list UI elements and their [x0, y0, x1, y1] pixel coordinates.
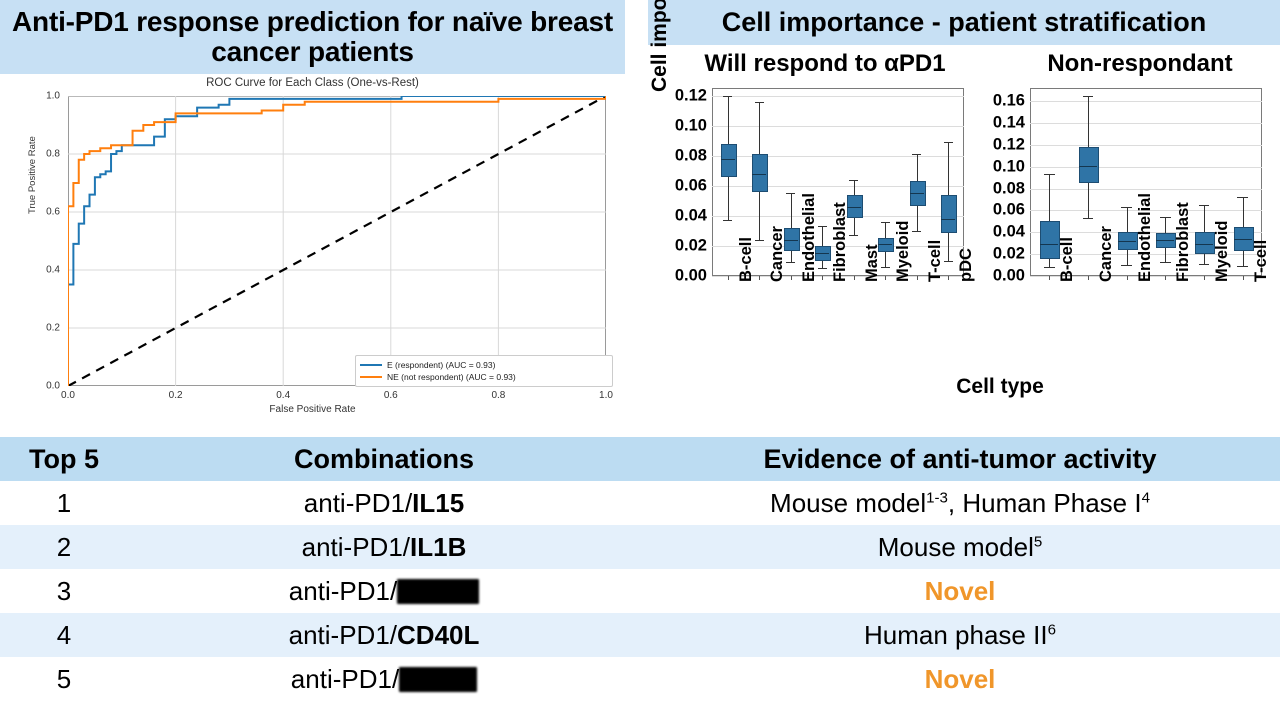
cell-evidence: Novel [640, 664, 1280, 695]
roc-x-tick: 0.6 [384, 390, 398, 401]
roc-y-tick: 0.4 [30, 265, 60, 276]
median-line [721, 159, 735, 160]
boxplot-x-label: B-cell [1058, 237, 1077, 282]
roc-x-tick: 0.2 [169, 390, 183, 401]
x-tickmark [1049, 276, 1050, 280]
gridline [1030, 189, 1262, 190]
combination-prefix: anti-PD1/ [291, 664, 399, 694]
cell-rank: 5 [0, 664, 128, 695]
x-tickmark [728, 276, 729, 280]
whisker-cap-upper [944, 142, 953, 143]
whisker-cap-upper [1121, 207, 1132, 208]
whisker-upper [1243, 197, 1244, 227]
x-tickmark [1088, 276, 1089, 280]
roc-svg [68, 96, 606, 386]
roc-x-tick: 0.0 [61, 390, 75, 401]
whisker-cap-upper [912, 154, 921, 155]
cell-evidence: Mouse model5 [640, 532, 1280, 563]
roc-x-tick: 0.8 [491, 390, 505, 401]
combination-prefix: anti-PD1/ [304, 488, 412, 518]
whisker-upper [822, 226, 823, 246]
combination-prefix: anti-PD1/ [302, 532, 410, 562]
cell-rank: 4 [0, 620, 128, 651]
whisker-cap-lower [944, 261, 953, 262]
whisker-cap-lower [723, 220, 732, 221]
whisker-upper [854, 180, 855, 195]
whisker-cap-upper [1199, 205, 1210, 206]
whisker-cap-lower [1237, 266, 1248, 267]
boxplot-y-tick: 0.02 [993, 245, 1025, 264]
boxplot-x-label: Cancer [1097, 226, 1116, 282]
whisker-cap-lower [755, 240, 764, 241]
box [721, 144, 737, 178]
table-row: 2 anti-PD1/IL1B Mouse model5 [0, 525, 1280, 569]
whisker-upper [917, 154, 918, 181]
legend-label: NE (not respondent) (AUC = 0.93) [387, 372, 516, 382]
table-row: 5 anti-PD1/ Novel [0, 657, 1280, 701]
x-tickmark [791, 276, 792, 280]
x-tickmark [759, 276, 760, 280]
whisker-cap-lower [881, 267, 890, 268]
whisker-lower [948, 231, 949, 261]
whisker-upper [759, 102, 760, 155]
roc-plot-area: True Positive Rate [68, 96, 606, 386]
roc-x-axis-label: False Positive Rate [0, 404, 625, 415]
legend-color-swatch [360, 364, 382, 366]
roc-y-tick: 1.0 [30, 91, 60, 102]
gridline [712, 96, 964, 97]
median-line [910, 193, 924, 194]
whisker-upper [791, 193, 792, 228]
boxplot-x-label: Myeloid [894, 221, 913, 282]
whisker-upper [1204, 205, 1205, 232]
drug-name: IL1B [410, 532, 466, 562]
legend-item: NE (not respondent) (AUC = 0.93) [360, 371, 608, 383]
whisker-lower [917, 204, 918, 231]
whisker-cap-lower [912, 231, 921, 232]
column-header-evidence: Evidence of anti-tumor activity [640, 444, 1280, 475]
gridline [712, 186, 964, 187]
gridline [1030, 101, 1262, 102]
boxplot-responder: 0.000.020.040.060.080.100.12 B-cell Canc… [712, 88, 964, 276]
cell-type-axis-label: Cell type [880, 375, 1120, 399]
gridline [712, 126, 964, 127]
whisker-cap-upper [1160, 217, 1171, 218]
table-header-row: Top 5 Combinations Evidence of anti-tumo… [0, 437, 1280, 481]
whisker-cap-lower [818, 268, 827, 269]
whisker-lower [759, 190, 760, 240]
drug-name: IL15 [412, 488, 464, 518]
boxplot-y-tick: 0.04 [993, 223, 1025, 242]
whisker-cap-upper [881, 222, 890, 223]
cell-importance-axis-label: Cell importance [648, 0, 672, 92]
boxplot-y-tick: 0.12 [675, 86, 707, 105]
drug-name: CD40L [397, 620, 479, 650]
whisker-upper [1049, 174, 1050, 221]
x-tickmark [917, 276, 918, 280]
x-tickmark [885, 276, 886, 280]
whisker-lower [854, 216, 855, 236]
redacted-drug-name [397, 579, 479, 604]
cell-combination: anti-PD1/IL15 [128, 488, 640, 519]
whisker-lower [1127, 248, 1128, 265]
whisker-cap-lower [1121, 265, 1132, 266]
left-panel-title: Anti-PD1 response prediction for naïve b… [0, 0, 625, 74]
evidence-text: Mouse model1-3, Human Phase I4 [770, 488, 1150, 518]
roc-chart-panel: ROC Curve for Each Class (One-vs-Rest) T… [0, 74, 625, 432]
boxplot-x-label: Endothelial [800, 193, 819, 282]
median-line [815, 253, 829, 254]
whisker-upper [728, 96, 729, 144]
roc-legend: E (respondent) (AUC = 0.93) NE (not resp… [355, 355, 613, 387]
gridline [1030, 145, 1262, 146]
boxplot-x-label: Fibroblast [1174, 202, 1193, 282]
roc-chart-title: ROC Curve for Each Class (One-vs-Rest) [0, 77, 625, 89]
median-line [752, 174, 766, 175]
table-body: 1 anti-PD1/IL15 Mouse model1-3, Human Ph… [0, 481, 1280, 701]
roc-y-tick: 0.8 [30, 149, 60, 160]
cell-combination: anti-PD1/ [128, 664, 640, 695]
boxplot-y-tick: 0.10 [675, 116, 707, 135]
legend-color-swatch [360, 376, 382, 378]
whisker-upper [885, 222, 886, 239]
boxplot-y-tick: 0.10 [993, 157, 1025, 176]
whisker-cap-upper [723, 96, 732, 97]
gridline [1030, 123, 1262, 124]
whisker-lower [728, 175, 729, 220]
whisker-cap-lower [849, 235, 858, 236]
whisker-cap-upper [849, 180, 858, 181]
boxplot-y-tick: 0.08 [675, 146, 707, 165]
cell-combination: anti-PD1/CD40L [128, 620, 640, 651]
x-tickmark [854, 276, 855, 280]
whisker-cap-lower [1199, 264, 1210, 265]
roc-y-tick: 0.6 [30, 207, 60, 218]
whisker-lower [791, 249, 792, 263]
boxplot-y-tick: 0.00 [993, 267, 1025, 286]
boxplot-y-tick: 0.12 [993, 135, 1025, 154]
whisker-cap-upper [1237, 197, 1248, 198]
median-line [1195, 244, 1213, 245]
whisker-cap-upper [786, 193, 795, 194]
nonresponder-subtitle: Non-respondant [1000, 50, 1280, 78]
median-line [784, 240, 798, 241]
gridline [1030, 167, 1262, 168]
whisker-lower [1088, 181, 1089, 218]
whisker-upper [1127, 207, 1128, 232]
column-header-combinations: Combinations [128, 444, 640, 475]
median-line [847, 207, 861, 208]
x-tickmark [1204, 276, 1205, 280]
median-line [1079, 166, 1097, 167]
median-line [941, 219, 955, 220]
cell-rank: 3 [0, 576, 128, 607]
boxplot-x-label: B-cell [737, 237, 756, 282]
whisker-lower [1243, 249, 1244, 266]
evidence-text: Mouse model5 [878, 532, 1042, 562]
whisker-lower [885, 250, 886, 267]
median-line [1234, 239, 1252, 240]
whisker-cap-upper [818, 226, 827, 227]
median-line [1156, 240, 1174, 241]
whisker-cap-lower [1160, 262, 1171, 263]
boxplot-x-label: pDC [957, 248, 976, 282]
right-panel-title: Cell importance - patient stratification [648, 0, 1280, 45]
table-row: 4 anti-PD1/CD40L Human phase II6 [0, 613, 1280, 657]
boxplot-y-tick: 0.06 [993, 201, 1025, 220]
cell-evidence: Mouse model1-3, Human Phase I4 [640, 488, 1280, 519]
box [878, 238, 894, 252]
boxplot-y-tick: 0.06 [675, 176, 707, 195]
boxplot-x-label: T-cell [1252, 240, 1271, 282]
legend-item: E (respondent) (AUC = 0.93) [360, 359, 608, 371]
boxplot-y-tick: 0.14 [993, 113, 1025, 132]
whisker-upper [1165, 217, 1166, 233]
boxplot-y-tick: 0.16 [993, 92, 1025, 111]
x-tickmark [1243, 276, 1244, 280]
roc-y-tick: 0.2 [30, 323, 60, 334]
box [1195, 232, 1215, 254]
roc-y-tick: 0.0 [30, 381, 60, 392]
table-row: 1 anti-PD1/IL15 Mouse model1-3, Human Ph… [0, 481, 1280, 525]
whisker-cap-lower [1044, 267, 1055, 268]
cell-evidence: Novel [640, 576, 1280, 607]
combination-prefix: anti-PD1/ [289, 576, 397, 606]
x-tickmark [948, 276, 949, 280]
boxplot-nonresponder: 0.000.020.040.060.080.100.120.140.16 B-c… [1030, 88, 1262, 276]
evidence-text: Human phase II6 [864, 620, 1056, 650]
x-tickmark [1127, 276, 1128, 280]
median-line [1040, 244, 1058, 245]
novel-badge: Novel [925, 576, 996, 606]
whisker-upper [1088, 96, 1089, 147]
combination-prefix: anti-PD1/ [289, 620, 397, 650]
gridline [712, 156, 964, 157]
whisker-lower [1165, 246, 1166, 261]
boxplot-y-tick: 0.02 [675, 236, 707, 255]
whisker-cap-upper [1083, 96, 1094, 97]
top5-combinations-table: Top 5 Combinations Evidence of anti-tumo… [0, 437, 1280, 701]
boxplot-x-label: Endothelial [1136, 193, 1155, 282]
cell-combination: anti-PD1/IL1B [128, 532, 640, 563]
whisker-cap-upper [755, 102, 764, 103]
boxplot-x-label: Myeloid [1213, 221, 1232, 282]
whisker-cap-lower [1083, 218, 1094, 219]
boxplot-y-tick: 0.04 [675, 206, 707, 225]
boxplot-x-label: T-cell [926, 240, 945, 282]
boxplot-y-tick: 0.00 [675, 267, 707, 286]
roc-x-tick: 1.0 [599, 390, 613, 401]
responder-subtitle: Will respond to αPD1 [660, 50, 990, 78]
x-tickmark [1165, 276, 1166, 280]
whisker-cap-lower [786, 262, 795, 263]
roc-x-tick: 0.4 [276, 390, 290, 401]
median-line [878, 244, 892, 245]
cell-evidence: Human phase II6 [640, 620, 1280, 651]
table-row: 3 anti-PD1/ Novel [0, 569, 1280, 613]
cell-rank: 1 [0, 488, 128, 519]
legend-label: E (respondent) (AUC = 0.93) [387, 360, 495, 370]
cell-rank: 2 [0, 532, 128, 563]
novel-badge: Novel [925, 664, 996, 694]
box [941, 195, 957, 233]
x-tickmark [822, 276, 823, 280]
cell-combination: anti-PD1/ [128, 576, 640, 607]
whisker-cap-upper [1044, 174, 1055, 175]
boxplot-y-tick: 0.08 [993, 179, 1025, 198]
median-line [1118, 241, 1136, 242]
whisker-upper [948, 142, 949, 195]
redacted-drug-name [399, 667, 477, 692]
column-header-rank: Top 5 [0, 444, 128, 475]
